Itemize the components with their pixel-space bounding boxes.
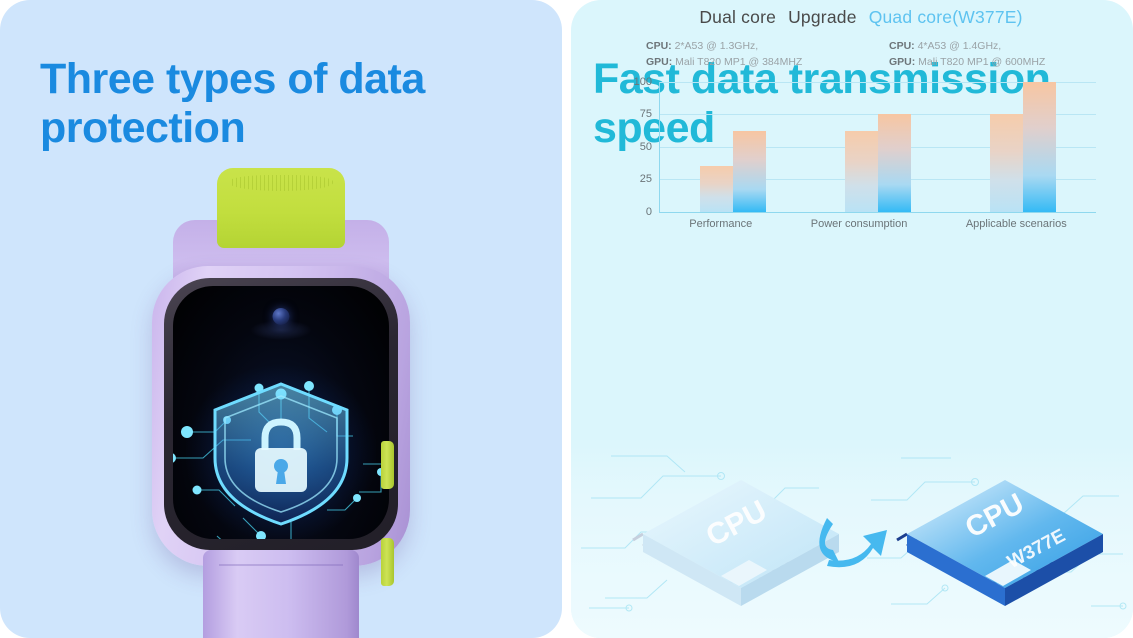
bar-chart-plot: 1007550250 PerformancePower consumptionA… [626,82,1096,228]
spec-dual-core: CPU: 2*A53 @ 1.3GHz, GPU: Mali T820 MP1 … [632,38,861,71]
spec-gpu-label: GPU: [646,56,672,68]
core-heading: Dual core Upgrade Quad core(W377E) [626,7,1096,28]
left-panel-title: Three types of data protection [40,55,520,154]
spec-cpu-value: 2*A53 @ 1.3GHz, [675,40,759,52]
bar [990,114,1023,212]
x-axis-labels: PerformancePower consumptionApplicable s… [660,218,1096,230]
spec-row: CPU: 2*A53 @ 1.3GHz, GPU: Mali T820 MP1 … [626,38,1096,71]
spec-cpu-label: CPU: [646,40,672,52]
watch-bezel [164,278,398,550]
x-axis-label: Performance [689,218,752,230]
core-heading-quad: Quad core(W377E) [869,7,1023,27]
watch-side-button-bottom[interactable] [381,538,394,586]
bar-group [700,131,766,212]
watch-case [152,266,410,566]
y-axis-tick: 0 [646,206,652,218]
cpu-chips-illustration: CPU [571,438,1133,638]
spec-gpu-label: GPU: [889,56,915,68]
spec-quad-core: CPU: 4*A53 @ 1.4GHz, GPU: Mali T820 MP1 … [861,38,1090,71]
bar [845,131,878,212]
spec-gpu-value: Mali T820 MP1 @ 600MHZ [918,56,1045,68]
spec-gpu-value: Mali T820 MP1 @ 384MHZ [675,56,802,68]
cpu-chip-graphic: CPU [571,438,1133,638]
x-axis-line [659,212,1096,213]
y-axis-tick: 100 [634,76,652,88]
security-shield-graphic [197,378,365,528]
watch-screen [173,286,389,539]
core-heading-upgrade: Upgrade [788,7,857,27]
bar-groups [660,82,1096,212]
bar [700,166,733,212]
x-axis-label: Power consumption [811,218,908,230]
core-heading-dual: Dual core [699,7,776,27]
y-axis-tick: 25 [640,173,652,185]
cpu-chip-old: CPU [633,480,839,606]
bar-group [845,114,911,212]
y-axis: 1007550250 [626,82,656,212]
left-panel: Three types of data protection [0,0,562,638]
watch-side-button-top[interactable] [381,441,394,489]
camera-icon [273,308,290,325]
spec-cpu-value: 4*A53 @ 1.4GHz, [918,40,1002,52]
spec-cpu-label: CPU: [889,40,915,52]
bar [733,131,766,212]
cpu-comparison-chart: Dual core Upgrade Quad core(W377E) CPU: … [626,7,1096,257]
smartwatch-illustration [131,168,431,638]
promo-board: Three types of data protection [0,0,1133,638]
bar [1023,82,1056,212]
watch-strap-bottom [203,550,359,638]
bar-group [990,82,1056,212]
shield-lock-icon [197,378,365,528]
right-panel: Fast data transmission speed Dual core U… [571,0,1133,638]
y-axis-tick: 50 [640,141,652,153]
y-axis-tick: 75 [640,108,652,120]
x-axis-label: Applicable scenarios [966,218,1067,230]
watch-strap-top-green [217,168,345,248]
cpu-chip-new: CPU W377E [897,480,1103,606]
bar [878,114,911,212]
